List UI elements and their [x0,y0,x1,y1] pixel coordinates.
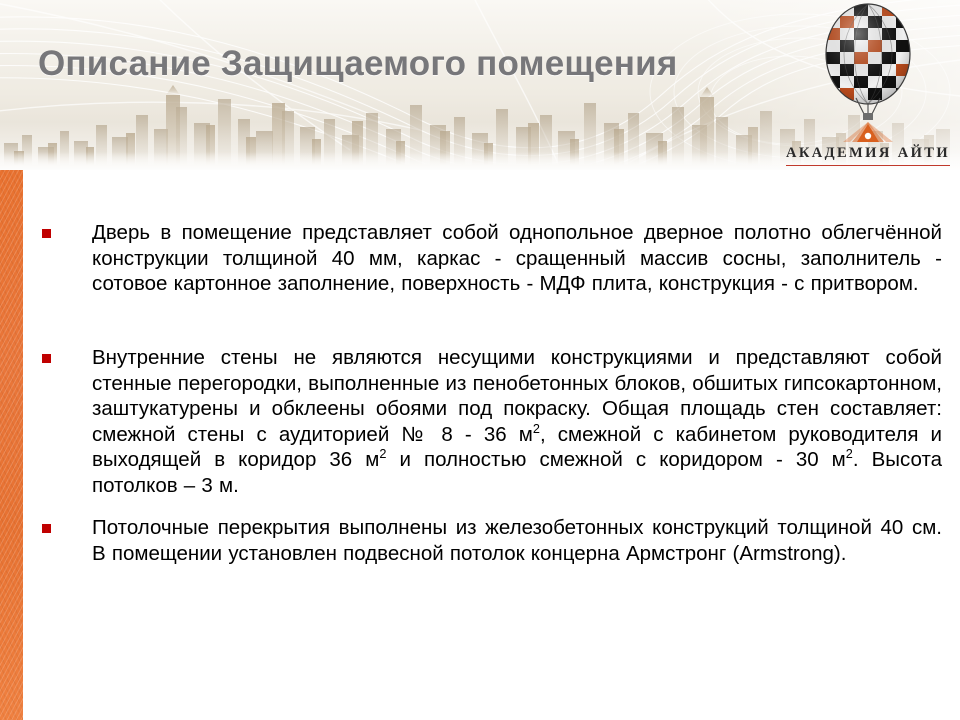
bullet-paragraph-3: Потолочные перекрытия выполнены из желез… [92,515,942,566]
balloon-logo-icon [812,2,924,142]
list-item: Дверь в помещение представляет собой одн… [42,220,942,297]
slide-body: Дверь в помещение представляет собой одн… [0,170,960,720]
presentation-slide: Описание Защищаемого помещения [0,0,960,720]
company-logo: АКАДЕМИЯ АЙТИ [784,2,952,168]
page-title: Описание Защищаемого помещения [38,44,677,84]
square-bullet-icon [42,524,51,533]
logo-underline [786,165,950,167]
list-item: Потолочные перекрытия выполнены из желез… [42,515,942,566]
bullet-paragraph-2: Внутренние стены не являются несущими ко… [92,345,942,498]
square-bullet-icon [42,229,51,238]
logo-wordmark: АКАДЕМИЯ АЙТИ [784,145,952,162]
list-item: Внутренние стены не являются несущими ко… [42,345,942,498]
bullet-paragraph-1: Дверь в помещение представляет собой одн… [92,220,942,297]
square-bullet-icon [42,354,51,363]
